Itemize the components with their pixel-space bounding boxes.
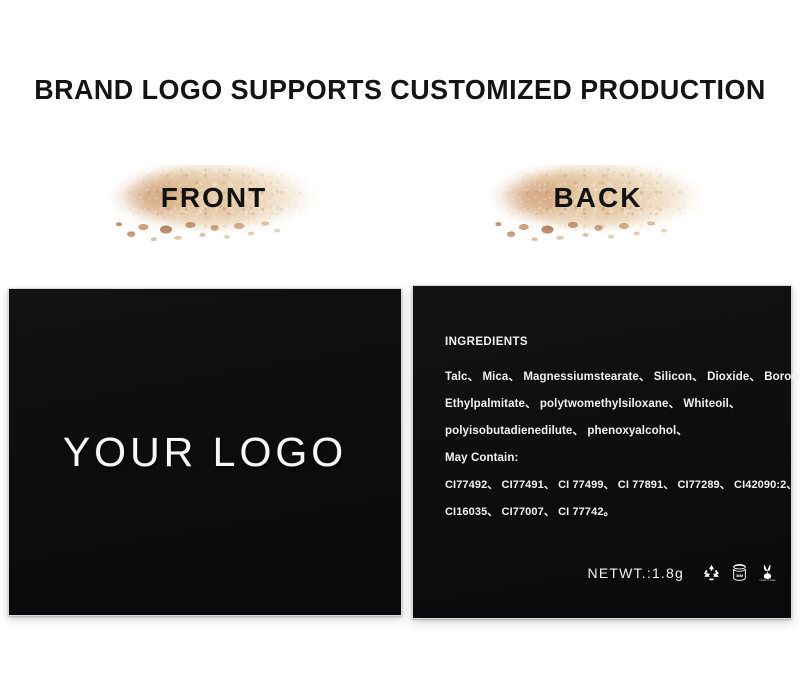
net-weight-text: NETWT.:1.8g: [588, 565, 684, 581]
logo-placeholder-text: YOUR LOGO: [9, 289, 401, 615]
product-card-front: YOUR LOGO: [8, 288, 402, 616]
ingredients-heading: INGREDIENTS: [445, 336, 773, 348]
colorant-line: CI16035、 CI77007、 CI 77742。: [445, 499, 773, 526]
powder-swatch-front: FRONT: [108, 165, 320, 257]
swatch-label-front: FRONT: [108, 165, 320, 231]
colorant-line: CI77492、 CI77491、 CI 77499、 CI 77891、 CI…: [445, 472, 773, 499]
page-title: BRAND LOGO SUPPORTS CUSTOMIZED PRODUCTIO…: [16, 74, 784, 106]
pao-duration-label: 36M: [736, 574, 743, 578]
ingredient-line: Ethylpalmitate、 polytwomethylsiloxane、 W…: [445, 391, 773, 418]
period-after-opening-icon: 36M: [730, 563, 749, 582]
cruelty-free-bunny-icon: CRUELTY FREE: [758, 563, 777, 582]
recycling-mobius-loop-icon: [702, 563, 721, 582]
back-card-footer: NETWT.:1.8g: [413, 563, 777, 582]
powder-swatch-back: BACK: [487, 165, 709, 257]
ingredients-block: INGREDIENTS Talc、 Mica、 Magnessiumsteara…: [445, 336, 773, 526]
swatch-label-back: BACK: [487, 165, 709, 231]
certification-icon-group: 36M CRUELTY FREE: [702, 563, 777, 582]
may-contain-label: May Contain:: [445, 445, 773, 472]
product-showcase-page: BRAND LOGO SUPPORTS CUSTOMIZED PRODUCTIO…: [0, 0, 800, 691]
ingredient-line: Talc、 Mica、 Magnessiumstearate、 Silicon、…: [445, 364, 773, 391]
ingredient-line: polyisobutadienedilute、 phenoxyalcohol、: [445, 418, 773, 445]
product-card-back: INGREDIENTS Talc、 Mica、 Magnessiumsteara…: [412, 285, 792, 619]
cruelty-free-label: CRUELTY FREE: [759, 580, 776, 582]
